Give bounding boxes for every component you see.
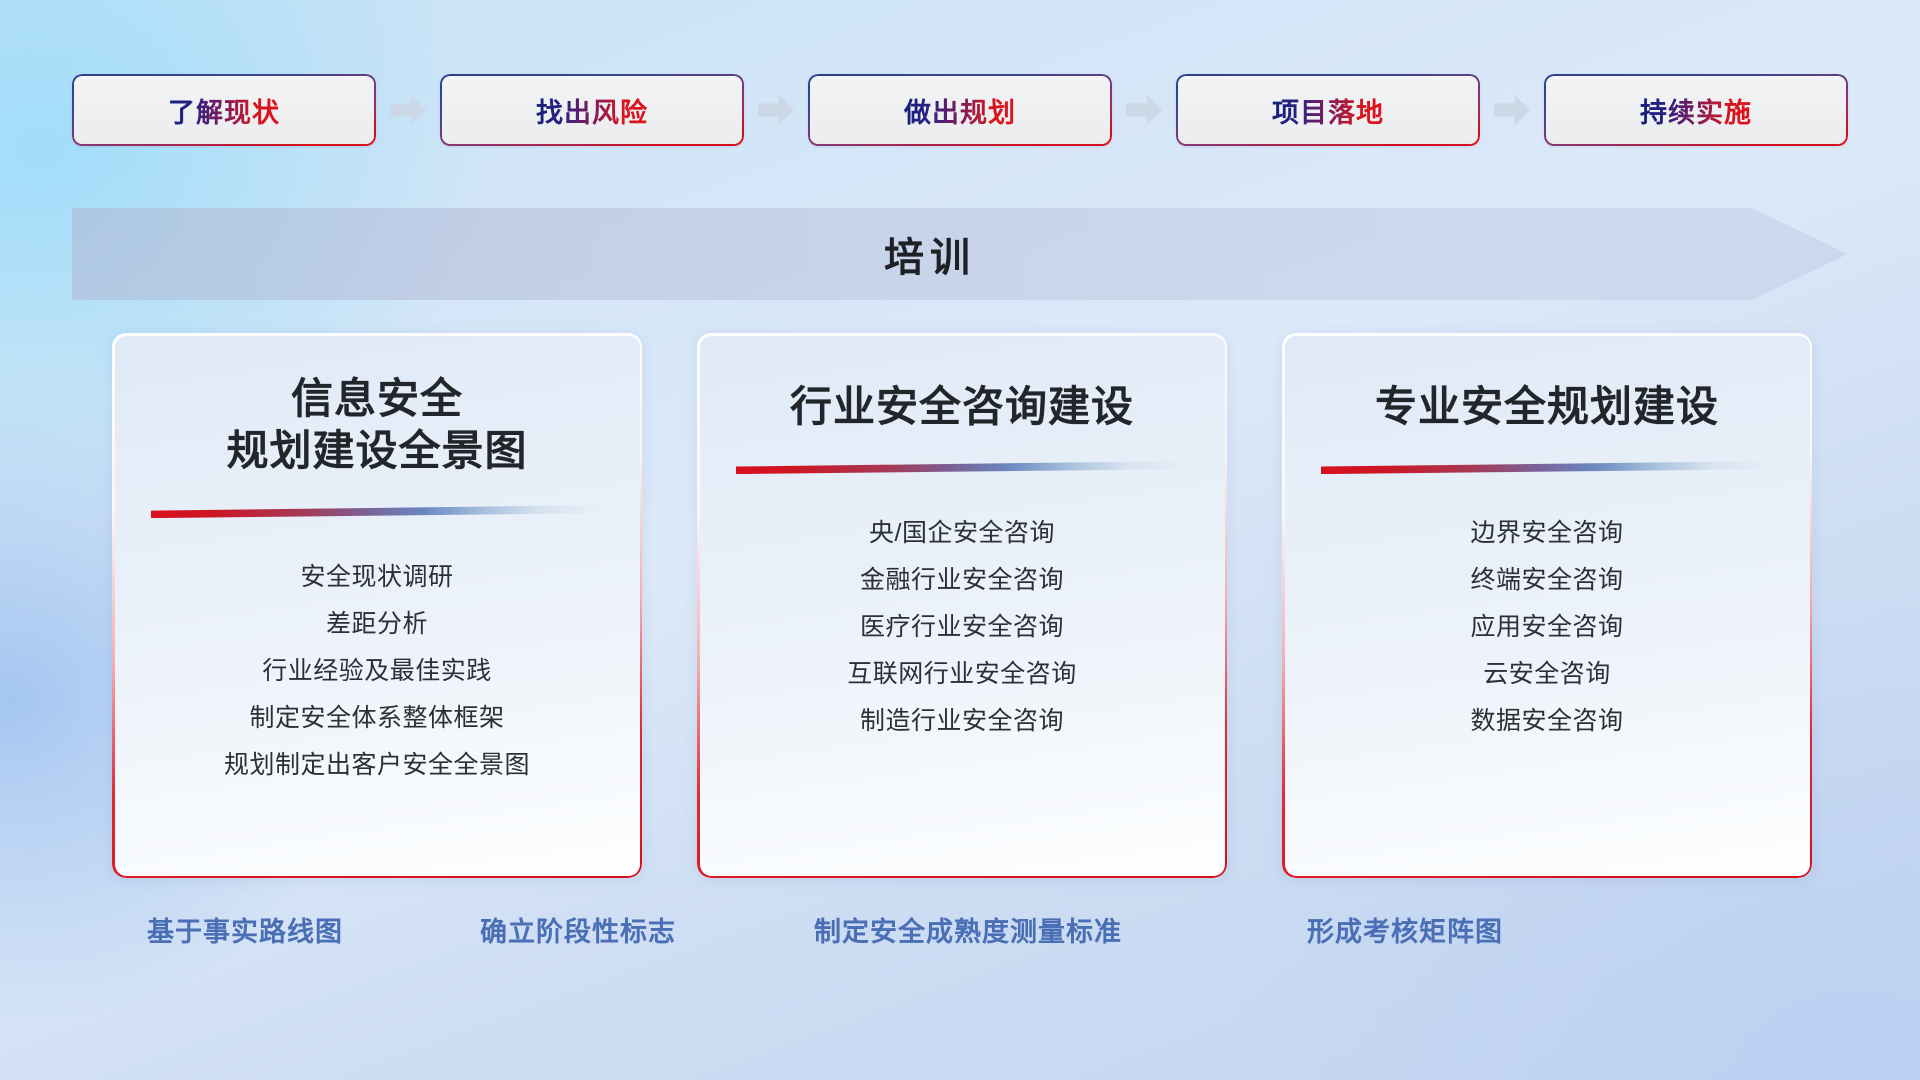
cards-row: 信息安全 规划建设全景图 安全现状调研 差距分析 行业经验及最佳实践 制定安全体… xyxy=(112,333,1812,878)
card-list-2: 央/国企安全咨询 金融行业安全咨询 医疗行业安全咨询 互联网行业安全咨询 制造行… xyxy=(723,510,1201,745)
card-divider-wrap-2 xyxy=(723,461,1201,474)
card-1[interactable]: 信息安全 规划建设全景图 安全现状调研 差距分析 行业经验及最佳实践 制定安全体… xyxy=(112,333,642,878)
step-label-2: 找出风险 xyxy=(536,91,648,130)
step-box-4[interactable]: 项目落地 xyxy=(1176,74,1480,146)
card-list-3: 边界安全咨询 终端安全咨询 应用安全咨询 云安全咨询 数据安全咨询 xyxy=(1308,510,1786,745)
arrow-right-icon-1 xyxy=(390,95,426,125)
list-item: 差距分析 xyxy=(138,601,616,648)
list-item: 金融行业安全咨询 xyxy=(723,557,1201,604)
footer-caption-4: 形成考核矩阵图 xyxy=(1307,910,1503,949)
list-item: 云安全咨询 xyxy=(1308,651,1786,698)
card-title-2: 行业安全咨询建设 xyxy=(790,381,1134,433)
card-3[interactable]: 专业安全规划建设 边界安全咨询 终端安全咨询 应用安全咨询 云安全咨询 数据安全… xyxy=(1282,333,1812,878)
step-label-5: 持续实施 xyxy=(1640,91,1752,130)
list-item: 边界安全咨询 xyxy=(1308,510,1786,557)
footer-caption-3: 制定安全成熟度测量标准 xyxy=(814,910,1122,949)
arrow-right-icon-4 xyxy=(1494,95,1530,125)
card-title-3: 专业安全规划建设 xyxy=(1375,381,1719,433)
card-divider-3 xyxy=(1321,461,1773,474)
list-item: 数据安全咨询 xyxy=(1308,698,1786,745)
list-item: 制造行业安全咨询 xyxy=(723,698,1201,745)
footer-captions: 基于事实路线图 确立阶段性标志 制定安全成熟度测量标准 形成考核矩阵图 xyxy=(0,910,1920,966)
step-label-4: 项目落地 xyxy=(1272,91,1384,130)
list-item: 终端安全咨询 xyxy=(1308,557,1786,604)
footer-caption-1: 基于事实路线图 xyxy=(147,910,343,949)
slide-canvas: 了解现状 找出风险 做出规划 项目落地 持续实施 培训 信息安全 规划建设全景图 xyxy=(0,0,1920,1080)
list-item: 央/国企安全咨询 xyxy=(723,510,1201,557)
list-item: 应用安全咨询 xyxy=(1308,604,1786,651)
card-divider-1 xyxy=(151,505,603,518)
list-item: 规划制定出客户安全全景图 xyxy=(138,742,616,789)
process-steps-row: 了解现状 找出风险 做出规划 项目落地 持续实施 xyxy=(72,74,1848,146)
card-divider-2 xyxy=(736,461,1188,474)
arrow-right-icon-3 xyxy=(1126,95,1162,125)
list-item: 安全现状调研 xyxy=(138,554,616,601)
banner-title: 培训 xyxy=(884,225,976,283)
step-box-5[interactable]: 持续实施 xyxy=(1544,74,1848,146)
card-list-1: 安全现状调研 差距分析 行业经验及最佳实践 制定安全体系整体框架 规划制定出客户… xyxy=(138,554,616,789)
step-box-2[interactable]: 找出风险 xyxy=(440,74,744,146)
card-2[interactable]: 行业安全咨询建设 央/国企安全咨询 金融行业安全咨询 医疗行业安全咨询 互联网行… xyxy=(697,333,1227,878)
card-divider-wrap-3 xyxy=(1308,461,1786,474)
card-divider-wrap-1 xyxy=(138,505,616,518)
footer-caption-2: 确立阶段性标志 xyxy=(480,910,676,949)
list-item: 行业经验及最佳实践 xyxy=(138,648,616,695)
list-item: 医疗行业安全咨询 xyxy=(723,604,1201,651)
step-label-3: 做出规划 xyxy=(904,91,1016,130)
arrow-right-icon-2 xyxy=(758,95,794,125)
step-box-3[interactable]: 做出规划 xyxy=(808,74,1112,146)
list-item: 互联网行业安全咨询 xyxy=(723,651,1201,698)
training-banner: 培训 xyxy=(72,208,1848,300)
step-label-1: 了解现状 xyxy=(168,91,280,130)
step-box-1[interactable]: 了解现状 xyxy=(72,74,376,146)
card-title-1: 信息安全 规划建设全景图 xyxy=(226,373,527,477)
list-item: 制定安全体系整体框架 xyxy=(138,695,616,742)
